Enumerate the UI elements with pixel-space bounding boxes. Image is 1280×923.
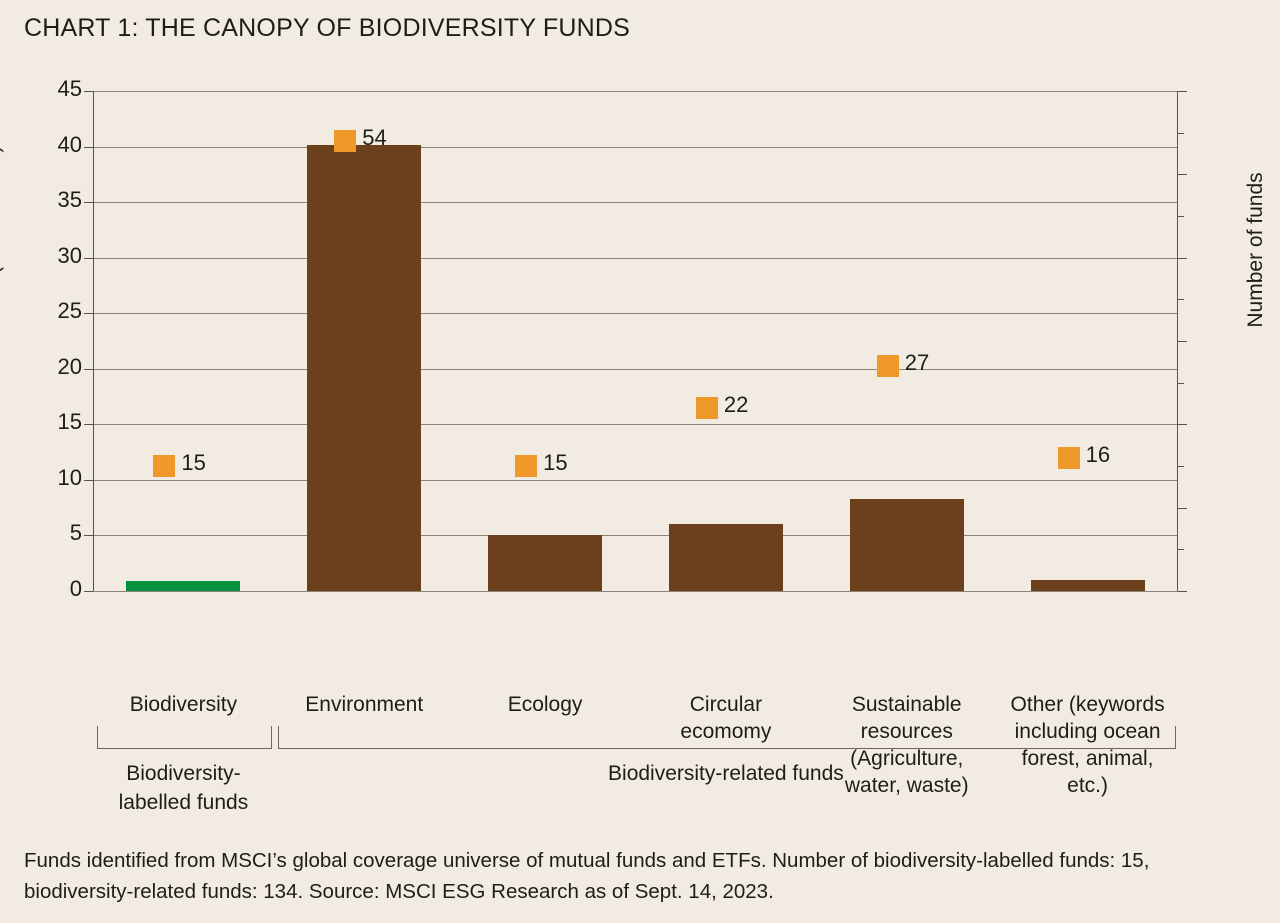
left-axis-tick <box>84 313 93 314</box>
number-of-funds-value-label: 15 <box>181 450 205 476</box>
right-axis-title: Number of funds <box>1244 172 1268 327</box>
number-of-funds-marker[interactable] <box>153 455 175 477</box>
left-axis-tick-label: 0 <box>22 576 82 602</box>
plot-area: 051015202530354045 0102030405060 1554152… <box>93 91 1178 591</box>
footnote: Funds identified from MSCI’s global cove… <box>24 845 1194 907</box>
left-axis-tick <box>84 591 93 592</box>
right-axis-minor-tick <box>1178 133 1184 134</box>
left-axis-tick-label: 30 <box>22 243 82 269</box>
right-axis-tick <box>1178 258 1187 259</box>
gridline <box>93 258 1178 259</box>
right-axis-minor-tick <box>1178 383 1184 384</box>
gridline <box>93 91 1178 92</box>
right-axis-minor-tick <box>1178 466 1184 467</box>
category-label-line: Sustainable <box>810 691 1003 718</box>
number-of-funds-marker[interactable] <box>696 397 718 419</box>
left-axis-title: AUM (USD billions) <box>0 146 5 327</box>
left-axis-tick <box>84 424 93 425</box>
right-axis-minor-tick <box>1178 549 1184 550</box>
gridline <box>93 480 1178 481</box>
right-axis-tick <box>1178 341 1187 342</box>
category-label-line: Other (keywords <box>991 691 1184 718</box>
left-axis-tick <box>84 369 93 370</box>
left-axis-tick-label: 35 <box>22 187 82 213</box>
right-axis-tick <box>1178 508 1187 509</box>
gridline <box>93 147 1178 148</box>
number-of-funds-marker[interactable] <box>1058 447 1080 469</box>
number-of-funds-value-label: 27 <box>905 350 929 376</box>
bar[interactable] <box>669 524 783 591</box>
number-of-funds-value-label: 54 <box>362 125 386 151</box>
number-of-funds-value-label: 15 <box>543 450 567 476</box>
right-axis-minor-tick <box>1178 216 1184 217</box>
page-title: CHART 1: THE CANOPY OF BIODIVERSITY FUND… <box>24 14 630 43</box>
x-axis-baseline <box>93 591 1178 592</box>
bar[interactable] <box>850 499 964 591</box>
group-bracket <box>278 726 1176 749</box>
right-axis-tick <box>1178 591 1187 592</box>
category-label-line: Environment <box>268 691 461 718</box>
left-axis-tick-label: 40 <box>22 132 82 158</box>
bar[interactable] <box>126 581 240 591</box>
number-of-funds-marker[interactable] <box>334 130 356 152</box>
group-bracket-label: Biodiversity-related funds <box>238 759 1214 788</box>
left-axis-tick <box>84 91 93 92</box>
left-axis-tick-label: 10 <box>22 465 82 491</box>
group-label-line: labelled funds <box>57 788 310 817</box>
left-axis-tick-label: 15 <box>22 409 82 435</box>
left-axis-tick <box>84 535 93 536</box>
right-axis-tick <box>1178 91 1187 92</box>
left-axis-tick-label: 45 <box>22 76 82 102</box>
category-label-line: Circular <box>630 691 823 718</box>
left-axis-tick-label: 20 <box>22 354 82 380</box>
bar[interactable] <box>307 145 421 591</box>
left-axis-tick <box>84 258 93 259</box>
left-axis-tick <box>84 480 93 481</box>
group-label-line: Biodiversity-related funds <box>238 759 1214 788</box>
right-axis-line <box>1177 91 1178 591</box>
category-label-line: Biodiversity <box>87 691 280 718</box>
category-label: Environment <box>268 691 461 718</box>
left-axis-tick <box>84 147 93 148</box>
category-label: Ecology <box>449 691 642 718</box>
right-axis-tick <box>1178 424 1187 425</box>
number-of-funds-marker[interactable] <box>515 455 537 477</box>
bar[interactable] <box>1031 580 1145 591</box>
group-bracket <box>97 726 272 749</box>
category-label: Biodiversity <box>87 691 280 718</box>
gridline <box>93 424 1178 425</box>
gridline <box>93 369 1178 370</box>
left-axis-tick-label: 5 <box>22 520 82 546</box>
right-axis-minor-tick <box>1178 299 1184 300</box>
left-axis-tick-label: 25 <box>22 298 82 324</box>
gridline <box>93 313 1178 314</box>
right-axis-tick <box>1178 174 1187 175</box>
gridline <box>93 535 1178 536</box>
number-of-funds-value-label: 22 <box>724 392 748 418</box>
category-label-line: Ecology <box>449 691 642 718</box>
bar[interactable] <box>488 535 602 591</box>
number-of-funds-marker[interactable] <box>877 355 899 377</box>
left-axis-line <box>93 91 94 591</box>
number-of-funds-value-label: 16 <box>1086 442 1110 468</box>
left-axis-tick <box>84 202 93 203</box>
gridline <box>93 202 1178 203</box>
